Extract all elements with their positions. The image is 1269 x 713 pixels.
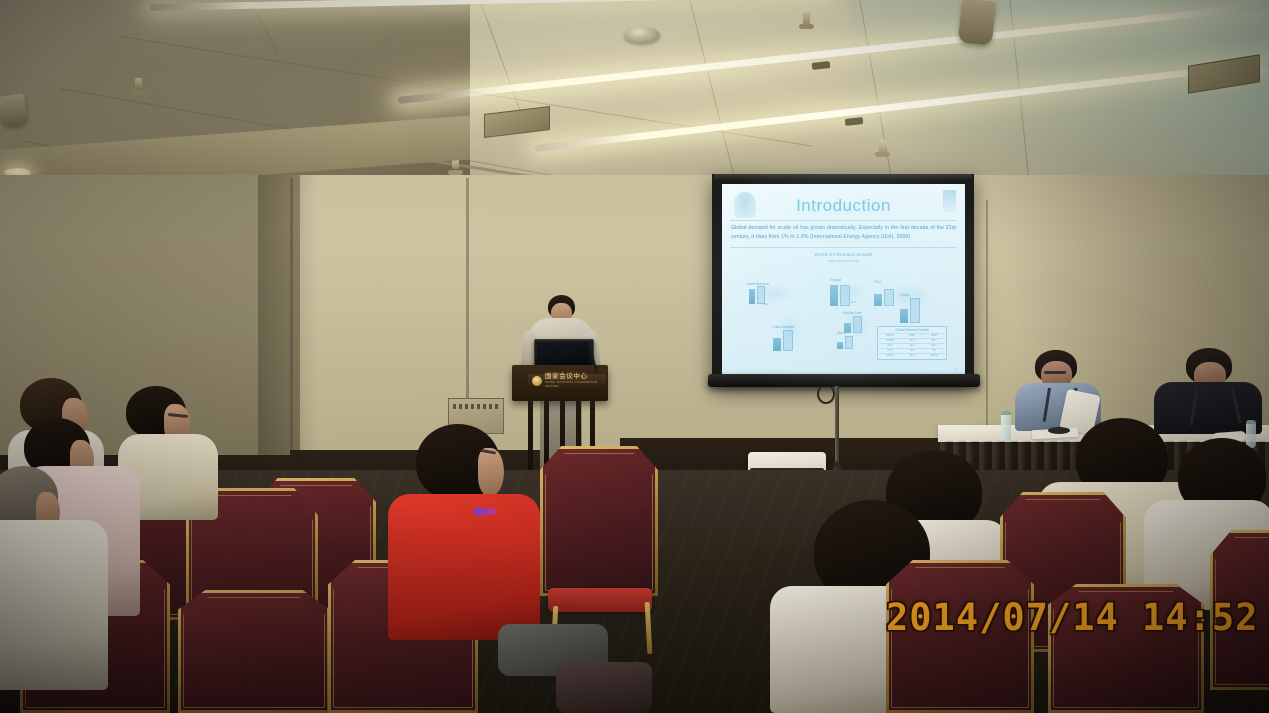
ceiling-speaker (958, 0, 996, 46)
slide-divider (730, 247, 957, 248)
chair-gold-trim (1053, 591, 1199, 708)
chart-value-label: 24.2 (763, 302, 768, 306)
water-bottle (1001, 411, 1011, 441)
screen-strap (817, 384, 835, 404)
podium-sign-english: CHINA NATIONAL CONVENTION CENTER (545, 380, 602, 388)
chart-bar (853, 316, 862, 333)
world-map-background: North America 24.2 Europe (734, 264, 953, 362)
dark-object-on-table (1048, 427, 1070, 434)
region-label: Africa (837, 331, 846, 335)
chair-seat (548, 588, 652, 612)
projection-screen-bottom-bar (708, 374, 980, 387)
chart-bar (773, 338, 781, 351)
light-mount-bracket (812, 61, 831, 70)
audience-torso (0, 520, 108, 690)
slide-chart: World Oil Demand Growth million barrels … (730, 250, 957, 364)
audience-torso (388, 494, 540, 640)
ceiling-air-vent (484, 106, 550, 138)
chart-bar (837, 342, 843, 349)
chair-gold-trim (891, 567, 1029, 708)
chart-bar (910, 298, 920, 323)
presentation-slide: Introduction Global demand for crude oil… (722, 184, 965, 374)
region-label: China (900, 293, 909, 297)
lanyard-badge (474, 508, 496, 515)
screen-tripod-pole (835, 386, 839, 472)
slide-page-number: 3 (955, 367, 957, 371)
slide-divider (730, 220, 957, 221)
sprinkler-head (135, 78, 142, 90)
table-cell: 107.0 (923, 353, 945, 358)
chair-gold-trim (1215, 537, 1269, 685)
chart-bar (900, 309, 908, 323)
laptop-screen (537, 342, 589, 365)
ceiling-speaker (0, 93, 28, 126)
eyeglasses (1044, 371, 1066, 374)
region-label: FSU (874, 280, 881, 284)
chart-bar (845, 336, 853, 349)
region-label: Europe (830, 278, 841, 282)
region-label: Latin America (773, 325, 794, 329)
chart-bar (749, 289, 755, 304)
slide-title: Introduction (722, 196, 965, 216)
banquet-chair (540, 446, 658, 596)
chair-gold-trim (183, 597, 325, 708)
audience-face (478, 448, 504, 496)
slide-data-table: Global Demand Growth Region 2008 2030 OE… (877, 326, 947, 360)
projection-screen-top-bar (714, 174, 972, 182)
chart-bar (840, 285, 850, 306)
region-label: Middle East (844, 311, 862, 315)
chart-value-label: 15.3 (850, 300, 855, 304)
table-row: World 84.0 107.0 (879, 353, 945, 358)
chart-subtitle: million barrels per day (730, 259, 957, 263)
smoke-detector (624, 27, 660, 43)
banquet-chair (178, 590, 330, 713)
chart-bar (874, 294, 882, 306)
chair-gold-trim (545, 453, 653, 591)
podium-sign: 国家会议中心 CHINA NATIONAL CONVENTION CENTER (528, 374, 606, 388)
table-cell: 84.0 (901, 353, 923, 358)
chart-bar (830, 285, 838, 306)
banquet-chair (886, 560, 1034, 713)
audience-bag (556, 662, 652, 713)
table-cell: World (879, 353, 901, 358)
podium-emblem-icon (532, 376, 542, 386)
sprinkler-head (879, 140, 886, 157)
sprinkler-head (803, 12, 810, 29)
chart-bar (783, 330, 793, 351)
slide-body-text: Global demand for crude oil has grown dr… (731, 224, 956, 242)
wall-panel-seam (986, 200, 988, 450)
water-bottle (1246, 420, 1256, 448)
chart-title: World Oil Demand Growth (730, 252, 957, 257)
chart-bar (884, 289, 894, 306)
banquet-chair (1210, 530, 1269, 690)
grille-perforation (453, 404, 499, 409)
wall-column-edge (290, 178, 293, 476)
banquet-chair (1048, 584, 1204, 713)
projection-screen-surface: Introduction Global demand for crude oil… (722, 184, 965, 374)
conference-room-photo: Introduction Global demand for crude oil… (0, 0, 1269, 713)
